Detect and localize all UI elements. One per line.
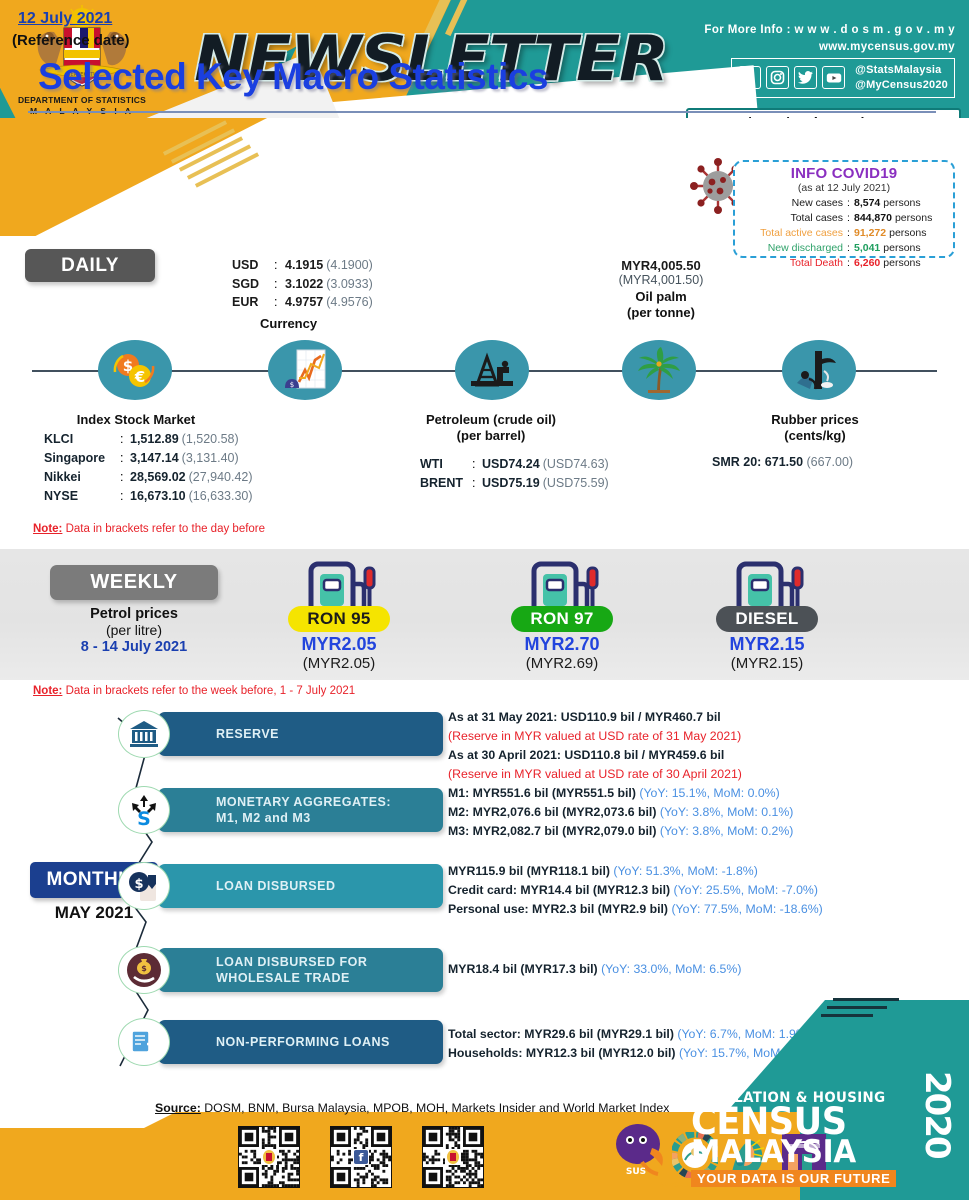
yoy-mom-change: (YoY: 3.8%, MoM: 0.2%) bbox=[660, 824, 794, 838]
covid-stat-unit: persons bbox=[883, 242, 920, 254]
fuel-grade-label: RON 95 bbox=[288, 606, 390, 632]
stock-index-previous: (27,940.42) bbox=[189, 470, 253, 484]
currency-block: USD:4.1915(4.1900)SGD:3.1022(3.0933)EUR:… bbox=[232, 256, 373, 333]
monthly-indicator-values: Total sector: MYR29.6 bil (MYR29.1 bil) … bbox=[448, 1025, 819, 1063]
petrol-pump-card: DIESELMYR2.15(MYR2.15) bbox=[708, 560, 826, 672]
petroleum-row: BRENT:USD75.19(USD75.59) bbox=[420, 474, 609, 493]
covid-stat-unit: persons bbox=[883, 197, 920, 209]
reference-date-caption: (Reference date) bbox=[12, 32, 130, 49]
covid-stat-label: Total Death bbox=[735, 256, 843, 271]
money-arrows-icon: S bbox=[118, 786, 170, 834]
covid-stat-value: 91,272 bbox=[854, 227, 886, 239]
svg-text:$: $ bbox=[134, 877, 143, 892]
covid-stat-label: New discharged bbox=[735, 241, 843, 256]
currency-previous: (4.1900) bbox=[326, 258, 373, 272]
covid-stat-unit: persons bbox=[889, 227, 926, 239]
bank-building-icon bbox=[118, 710, 170, 758]
stock-index-name: Nikkei bbox=[44, 468, 120, 487]
stock-index-value: 3,147.14 bbox=[130, 451, 179, 465]
currency-value: 3.1022 bbox=[285, 277, 323, 291]
handle-mycensus: @MyCensus2020 bbox=[855, 78, 948, 93]
oil-palm-caption: Oil palm bbox=[598, 289, 724, 305]
note-weekly: Note: Data in brackets refer to the week… bbox=[33, 685, 355, 697]
fuel-price-previous: (MYR2.69) bbox=[503, 655, 621, 672]
svg-text:S: S bbox=[137, 808, 151, 827]
petroleum-previous: (USD74.63) bbox=[543, 457, 609, 471]
stock-index-value: 1,512.89 bbox=[130, 432, 179, 446]
monthly-value-line: MYR18.4 bil (MYR17.3 bil) (YoY: 33.0%, M… bbox=[448, 960, 741, 979]
stock-index-name: KLCI bbox=[44, 430, 120, 449]
currency-row: SGD:3.1022(3.0933) bbox=[232, 275, 373, 294]
currency-value: 4.1915 bbox=[285, 258, 323, 272]
monthly-indicator-values: M1: MYR551.6 bil (MYR551.5 bil) (YoY: 15… bbox=[448, 784, 793, 841]
fuel-grade-label: DIESEL bbox=[716, 606, 818, 632]
loan-money-icon: $ bbox=[118, 862, 170, 910]
covid-stat-unit: persons bbox=[883, 257, 920, 269]
monthly-indicator-label: LOAN DISBURSED bbox=[158, 878, 336, 894]
monthly-value-line: Personal use: MYR2.3 bil (MYR2.9 bil) (Y… bbox=[448, 900, 823, 919]
qr-code-facebook[interactable]: f bbox=[330, 1126, 392, 1188]
dosm-url: For More Info : w w w . d o s m . g o v … bbox=[704, 22, 955, 39]
title-yellow-shape bbox=[0, 118, 311, 236]
monthly-value-line: M3: MYR2,082.7 bil (MYR2,079.0 bil) (YoY… bbox=[448, 822, 793, 841]
svg-text:€: € bbox=[134, 368, 145, 386]
currency-previous: (3.0933) bbox=[326, 277, 373, 291]
reference-date: 12 July 2021 bbox=[18, 10, 112, 28]
covid-stat-row: Total active cases:91,272persons bbox=[735, 226, 947, 241]
svg-text:f: f bbox=[359, 1151, 364, 1164]
footer-decoration-lines bbox=[819, 998, 899, 1022]
instagram-icon[interactable] bbox=[766, 66, 789, 89]
covid-stat-row: New discharged:5,041persons bbox=[735, 241, 947, 256]
currency-code: SGD bbox=[232, 275, 274, 294]
facebook-icon[interactable] bbox=[738, 66, 761, 89]
stock-row: KLCI:1,512.89(1,520.58) bbox=[44, 430, 253, 449]
oil-rig-icon bbox=[455, 340, 529, 400]
monthly-value-line: M1: MYR551.6 bil (MYR551.5 bil) (YoY: 15… bbox=[448, 784, 793, 803]
stock-index-previous: (1,520.58) bbox=[182, 432, 239, 446]
monthly-value-line: M2: MYR2,076.6 bil (MYR2,073.6 bil) (YoY… bbox=[448, 803, 793, 822]
stock-chart-icon: $ bbox=[268, 340, 342, 400]
page-title: Selected Key Macro Statistics bbox=[38, 56, 548, 98]
yoy-mom-change: (YoY: 33.0%, MoM: 6.5%) bbox=[601, 962, 741, 976]
covid-stat-label: Total active cases bbox=[735, 226, 843, 241]
broken-loan-icon bbox=[118, 1018, 170, 1066]
currency-previous: (4.9576) bbox=[326, 295, 373, 309]
covid-stat-value: 844,870 bbox=[854, 212, 892, 224]
note-daily: Note: Data in brackets refer to the day … bbox=[33, 523, 265, 535]
more-info-text: For More Info : w w w . d o s m . g o v … bbox=[704, 22, 955, 55]
qr-code-mycensus[interactable] bbox=[422, 1126, 484, 1188]
source-line: Source: DOSM, BNM, Bursa Malaysia, MPOB,… bbox=[155, 1101, 669, 1115]
monthly-value-line: Credit card: MYR14.4 bil (MYR12.3 bil) (… bbox=[448, 881, 823, 900]
monthly-value-line: (Reserve in MYR valued at USD rate of 31… bbox=[448, 727, 742, 746]
badge-weekly: WEEKLY bbox=[50, 565, 218, 600]
monthly-value-line: MYR115.9 bil (MYR118.1 bil) (YoY: 51.3%,… bbox=[448, 862, 823, 881]
palm-tree-icon bbox=[622, 340, 696, 400]
monthly-indicator-values: MYR115.9 bil (MYR118.1 bil) (YoY: 51.3%,… bbox=[448, 862, 823, 919]
youtube-icon[interactable] bbox=[822, 66, 845, 89]
monthly-indicator-label: LOAN DISBURSED FORWHOLESALE TRADE bbox=[158, 954, 367, 987]
monthly-value-line: As at 30 April 2021: USD110.8 bil / MYR4… bbox=[448, 746, 742, 765]
covid-stat-label: Total cases bbox=[735, 211, 843, 226]
monthly-indicator-bar[interactable]: LOAN DISBURSED bbox=[158, 864, 443, 908]
currency-caption: Currency bbox=[260, 314, 373, 333]
social-handles: @StatsMalaysia @MyCensus2020 bbox=[855, 63, 948, 93]
handle-statsmalaysia: @StatsMalaysia bbox=[855, 63, 948, 78]
fuel-price: MYR2.70 bbox=[503, 634, 621, 655]
covid-stat-value: 6,260 bbox=[854, 257, 880, 269]
fuel-price: MYR2.15 bbox=[708, 634, 826, 655]
monthly-indicator-bar[interactable]: MONETARY AGGREGATES:M1, M2 and M3 bbox=[158, 788, 443, 832]
petroleum-type: BRENT bbox=[420, 474, 472, 493]
stock-index-previous: (16,633.30) bbox=[189, 489, 253, 503]
currency-row: EUR:4.9757(4.9576) bbox=[232, 293, 373, 312]
monthly-indicator-bar[interactable]: RESERVE bbox=[158, 712, 443, 756]
covid-stats-list: New cases:8,574personsTotal cases:844,87… bbox=[735, 196, 953, 271]
oil-palm-previous: (MYR4,001.50) bbox=[598, 273, 724, 287]
fuel-price-previous: (MYR2.05) bbox=[280, 655, 398, 672]
monthly-value-line: As at 31 May 2021: USD110.9 bil / MYR460… bbox=[448, 708, 742, 727]
svg-text:$: $ bbox=[290, 381, 294, 389]
census-mascot-icon: SUS bbox=[612, 1118, 672, 1180]
covid-stat-unit: persons bbox=[895, 212, 932, 224]
rubber-value: SMR 20: 671.50 (667.00) bbox=[712, 455, 853, 469]
covid-stat-value: 8,574 bbox=[854, 197, 880, 209]
crest-caption: DEPARTMENT OF STATISTICS M A L A Y S I A bbox=[14, 95, 150, 118]
oil-palm-unit: (per tonne) bbox=[598, 305, 724, 321]
stock-row: Singapore:3,147.14(3,131.40) bbox=[44, 449, 253, 468]
covid-stat-row: Total Death:6,260persons bbox=[735, 256, 947, 271]
covid-stat-label: New cases bbox=[735, 196, 843, 211]
stock-index-name: NYSE bbox=[44, 487, 120, 506]
stock-market-title: Index Stock Market bbox=[68, 412, 204, 428]
yoy-mom-change: (YoY: 3.8%, MoM: 0.1%) bbox=[660, 805, 794, 819]
covid-stat-row: New cases:8,574persons bbox=[735, 196, 947, 211]
stock-market-values: KLCI:1,512.89(1,520.58)Singapore:3,147.1… bbox=[44, 430, 253, 506]
stock-row: Nikkei:28,569.02(27,940.42) bbox=[44, 468, 253, 487]
stock-index-name: Singapore bbox=[44, 449, 120, 468]
monthly-indicator-values: MYR18.4 bil (MYR17.3 bil) (YoY: 33.0%, M… bbox=[448, 960, 741, 979]
oil-palm-block: MYR4,005.50 (MYR4,001.50) Oil palm (per … bbox=[598, 258, 724, 322]
stock-index-previous: (3,131.40) bbox=[182, 451, 239, 465]
currency-code: USD bbox=[232, 256, 274, 275]
petrol-pump-card: RON 95MYR2.05(MYR2.05) bbox=[280, 560, 398, 672]
money-bag-hand-icon: $ bbox=[118, 946, 170, 994]
yoy-mom-change: (YoY: 77.5%, MoM: -18.6%) bbox=[671, 902, 822, 916]
yoy-mom-change: (YoY: 25.5%, MoM: -7.0%) bbox=[674, 883, 818, 897]
petroleum-title: Petroleum (crude oil) (per barrel) bbox=[412, 412, 570, 444]
stock-row: NYSE:16,673.10(16,633.30) bbox=[44, 487, 253, 506]
rubber-tapping-icon bbox=[782, 340, 856, 400]
covid-info-box: INFO COVID19 (as at 12 July 2021) New ca… bbox=[733, 160, 955, 258]
petroleum-previous: (USD75.59) bbox=[543, 476, 609, 490]
covid-stat-value: 5,041 bbox=[854, 242, 880, 254]
monthly-value-line: Households: MYR12.3 bil (MYR12.0 bil) (Y… bbox=[448, 1044, 819, 1063]
monthly-indicator-bar[interactable]: NON-PERFORMING LOANS bbox=[158, 1020, 443, 1064]
monthly-indicator-values: As at 31 May 2021: USD110.9 bil / MYR460… bbox=[448, 708, 742, 784]
svg-text:$: $ bbox=[141, 964, 147, 973]
petroleum-value: USD75.19 bbox=[482, 476, 540, 490]
petroleum-values: WTI:USD74.24(USD74.63)BRENT:USD75.19(USD… bbox=[420, 455, 609, 494]
covid-stat-row: Total cases:844,870persons bbox=[735, 211, 947, 226]
monthly-indicator-label: MONETARY AGGREGATES:M1, M2 and M3 bbox=[158, 794, 391, 827]
rubber-title: Rubber prices (cents/kg) bbox=[744, 412, 886, 444]
petroleum-type: WTI bbox=[420, 455, 472, 474]
qr-code-dosm[interactable] bbox=[238, 1126, 300, 1188]
monthly-value-line: Total sector: MYR29.6 bil (MYR29.1 bil) … bbox=[448, 1025, 819, 1044]
twitter-icon[interactable] bbox=[794, 66, 817, 89]
fuel-grade-label: RON 97 bbox=[511, 606, 613, 632]
badge-daily: DAILY bbox=[25, 249, 155, 282]
petroleum-value: USD74.24 bbox=[482, 457, 540, 471]
svg-text:SUS: SUS bbox=[626, 1167, 646, 1177]
social-media-box: @StatsMalaysia @MyCensus2020 bbox=[731, 58, 955, 98]
fuel-price-previous: (MYR2.15) bbox=[708, 655, 826, 672]
monthly-indicator-label: RESERVE bbox=[158, 726, 279, 742]
fuel-price: MYR2.05 bbox=[280, 634, 398, 655]
yoy-mom-change: (YoY: 51.3%, MoM: -1.8%) bbox=[613, 864, 757, 878]
stock-index-value: 28,569.02 bbox=[130, 470, 186, 484]
monthly-indicator-bar[interactable]: LOAN DISBURSED FORWHOLESALE TRADE bbox=[158, 948, 443, 992]
covid-subtitle: (as at 12 July 2021) bbox=[735, 182, 953, 194]
currency-exchange-icon: $ € bbox=[98, 340, 172, 400]
yoy-mom-change: (YoY: 15.1%, MoM: 0.0%) bbox=[639, 786, 779, 800]
currency-row: USD:4.1915(4.1900) bbox=[232, 256, 373, 275]
census-logo: POPULATION & HOUSING CENSUS MALAYSIA 202… bbox=[691, 1090, 959, 1188]
stock-index-value: 16,673.10 bbox=[130, 489, 186, 503]
title-divider bbox=[28, 111, 936, 113]
petroleum-row: WTI:USD74.24(USD74.63) bbox=[420, 455, 609, 474]
oil-palm-value: MYR4,005.50 bbox=[598, 258, 724, 273]
covid-title: INFO COVID19 bbox=[735, 165, 953, 182]
mycensus-url: www.mycensus.gov.my bbox=[704, 39, 955, 56]
monthly-indicator-label: NON-PERFORMING LOANS bbox=[158, 1034, 390, 1050]
newsletter-page: BERSEKUTU DEPARTMENT OF STATISTICS M A L… bbox=[0, 0, 969, 1200]
currency-code: EUR bbox=[232, 293, 274, 312]
petrol-pump-card: RON 97MYR2.70(MYR2.69) bbox=[503, 560, 621, 672]
currency-value: 4.9757 bbox=[285, 295, 323, 309]
monthly-value-line: (Reserve in MYR valued at USD rate of 30… bbox=[448, 765, 742, 784]
petrol-caption: Petrol prices (per litre) 8 - 14 July 20… bbox=[58, 606, 210, 655]
